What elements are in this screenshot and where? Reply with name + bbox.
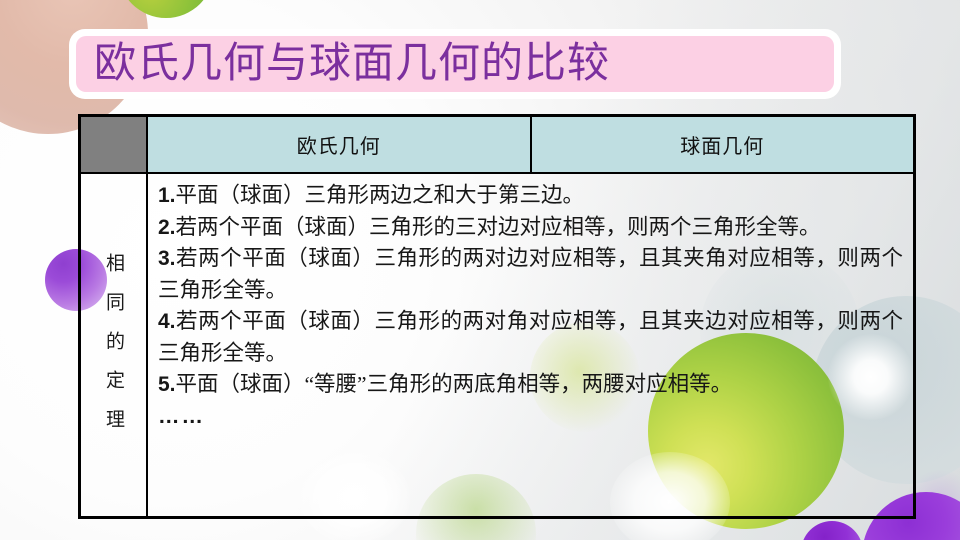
row-side-header: 相同的定理 (81, 174, 148, 516)
column-header-euclidean: 欧氏几何 (148, 117, 532, 172)
table-header-row: 欧氏几何 球面几何 (81, 117, 913, 174)
list-item-text: 若两个平面（球面）三角形的两对边对应相等，且其夹角对应相等，则两个三角形全等。 (158, 246, 903, 302)
slide-title-box: 欧氏几何与球面几何的比较 (69, 29, 841, 99)
table-corner-cell (81, 117, 148, 172)
list-item: 3.若两个平面（球面）三角形的两对边对应相等，且其夹角对应相等，则两个三角形全等… (158, 243, 903, 306)
table-body-row: 相同的定理 1.平面（球面）三角形两边之和大于第三边。 2.若两个平面（球面）三… (81, 174, 913, 516)
list-item: 5.平面（球面）“等腰”三角形的两底角相等，两腰对应相等。 (158, 369, 903, 401)
theorem-list: 1.平面（球面）三角形两边之和大于第三边。 2.若两个平面（球面）三角形的三对边… (148, 174, 913, 516)
list-item-number: 4. (158, 310, 176, 333)
slide-title-inner: 欧氏几何与球面几何的比较 (76, 36, 834, 92)
list-item-text: 平面（球面）三角形两边之和大于第三边。 (176, 183, 585, 207)
list-item-number: 2. (158, 216, 176, 239)
slide: 欧氏几何与球面几何的比较 欧氏几何 球面几何 相同的定理 1.平面（球面）三角形… (0, 0, 960, 540)
row-side-label: 相同的定理 (104, 243, 123, 448)
list-item: 4.若两个平面（球面）三角形的两对角对应相等，且其夹边对应相等，则两个三角形全等… (158, 306, 903, 369)
column-header-spherical: 球面几何 (532, 117, 914, 172)
list-item-number: 1. (158, 184, 176, 207)
list-item-number: 5. (158, 373, 176, 396)
page-title: 欧氏几何与球面几何的比较 (94, 43, 610, 85)
list-item: 2.若两个平面（球面）三角形的三对边对应相等，则两个三角形全等。 (158, 212, 903, 244)
list-item-text: 若两个平面（球面）三角形的两对角对应相等，且其夹边对应相等，则两个三角形全等。 (158, 309, 903, 365)
list-item-text: 若两个平面（球面）三角形的三对边对应相等，则两个三角形全等。 (176, 215, 821, 239)
list-item: 1.平面（球面）三角形两边之和大于第三边。 (158, 180, 903, 212)
list-item-ellipsis: …… (158, 401, 903, 432)
list-item-text: 平面（球面）“等腰”三角形的两底角相等，两腰对应相等。 (176, 372, 733, 396)
comparison-table: 欧氏几何 球面几何 相同的定理 1.平面（球面）三角形两边之和大于第三边。 2.… (78, 114, 916, 519)
list-item-number: 3. (158, 247, 176, 270)
